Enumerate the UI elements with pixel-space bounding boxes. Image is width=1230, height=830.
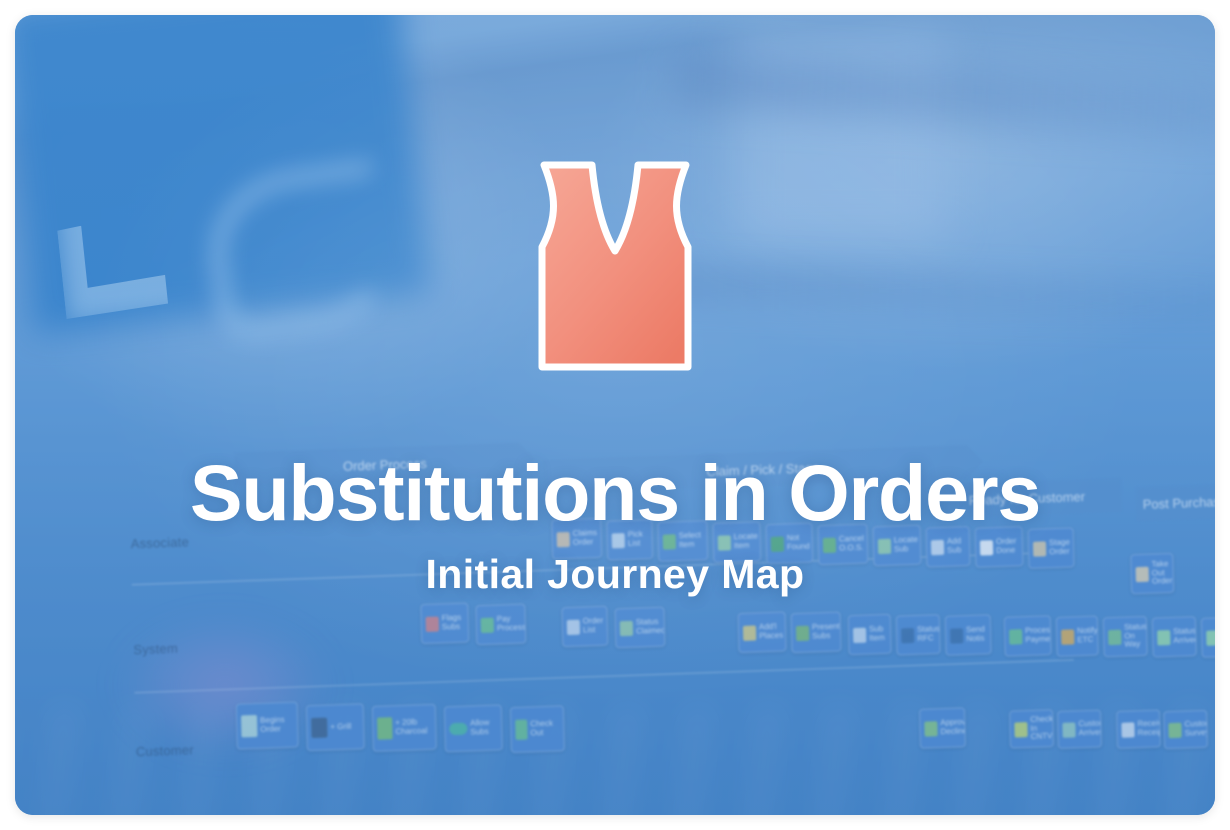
vest-logo-icon	[522, 155, 708, 377]
headline-block: Substitutions in Orders Initial Journey …	[15, 453, 1215, 595]
logo-container	[15, 155, 1215, 377]
title-slide-card: Associate System Customer Order Process …	[15, 15, 1215, 815]
page-title: Substitutions in Orders	[15, 453, 1215, 532]
page-subtitle: Initial Journey Map	[15, 554, 1215, 595]
background-scrim	[15, 15, 1215, 815]
